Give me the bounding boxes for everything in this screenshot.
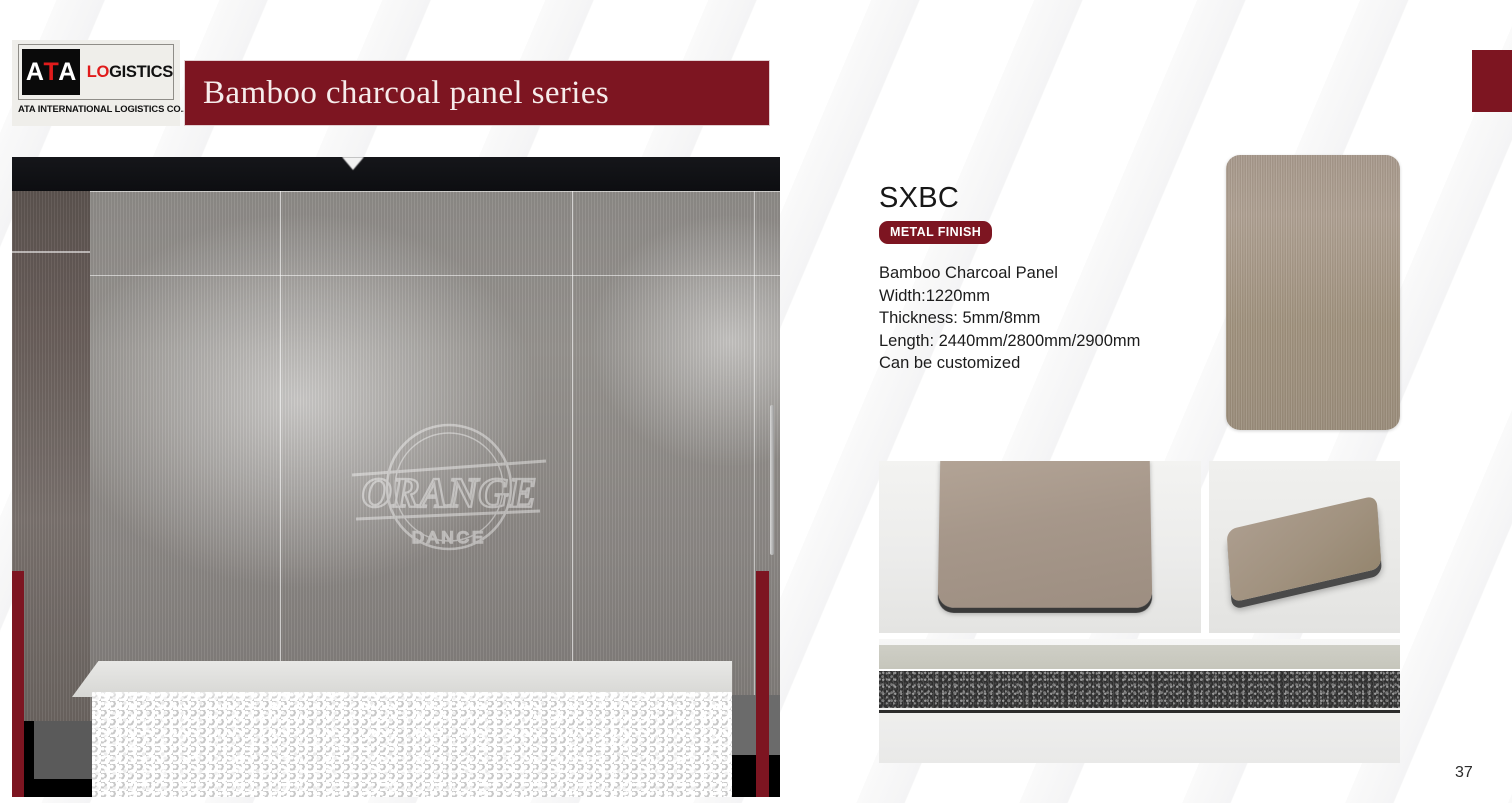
logo-letter-t: T (43, 60, 58, 85)
product-sku: SXBC (879, 182, 959, 215)
section-top-skin (879, 645, 1400, 669)
section-charcoal-core (879, 671, 1400, 708)
slide-title-banner: Bamboo charcoal panel series (184, 60, 770, 126)
logo-mark: ATA LOGISTICS (18, 44, 174, 100)
wall-seam-horizontal-top (90, 191, 780, 192)
logo-letter-a2: A (58, 60, 76, 85)
panel-angled-body (1226, 495, 1381, 602)
corner-accent-block (1472, 50, 1512, 112)
spec-line-custom: Can be customized (879, 352, 1140, 375)
product-photo-cross-section (879, 639, 1400, 763)
product-photo-flat (879, 461, 1201, 633)
page-number: 37 (1455, 764, 1473, 782)
wall-seam-horizontal-1 (90, 275, 780, 276)
spec-line-width: Width:1220mm (879, 285, 1140, 308)
section-bottom-skin (879, 710, 1400, 713)
material-color-swatch (1226, 155, 1400, 430)
logistics-wordmark: LOGISTICS (87, 63, 173, 82)
spec-line-material: Bamboo Charcoal Panel (879, 262, 1140, 285)
logistics-accent-o: O (97, 63, 110, 81)
wall-seam-vertical-2 (572, 191, 573, 721)
wall-logo-primary-text: ORANGE (361, 471, 536, 517)
spec-line-length: Length: 2440mm/2800mm/2900mm (879, 330, 1140, 353)
product-spec-list: Bamboo Charcoal Panel Width:1220mm Thick… (879, 262, 1140, 375)
hero-interior-photo: ORANGE DANCE (12, 157, 780, 797)
company-logo: ATA LOGISTICS ATA INTERNATIONAL LOGISTIC… (12, 40, 180, 126)
side-wall-seam (12, 251, 90, 253)
wall-base-left (34, 721, 92, 779)
panel-flat-body (938, 461, 1153, 608)
page-title: Bamboo charcoal panel series (203, 75, 609, 112)
accent-stripe-left (12, 571, 24, 797)
accent-stripe-right (756, 571, 769, 797)
ceiling-band (12, 157, 780, 191)
door-handle[interactable] (770, 405, 774, 555)
finish-badge: METAL FINISH (879, 221, 992, 244)
company-name-text: ATA INTERNATIONAL LOGISTICS CO.,LTD (18, 103, 176, 114)
product-photo-angled (1209, 461, 1400, 633)
wall-logo-secondary-text: DANCE (412, 528, 487, 547)
ata-logotype: ATA (22, 49, 80, 95)
wall-seam-vertical-1 (280, 191, 281, 721)
spec-line-thickness: Thickness: 5mm/8mm (879, 307, 1140, 330)
wall-brand-logo: ORANGE DANCE (334, 415, 564, 565)
logo-letter-a1: A (26, 60, 44, 85)
ceiling-light-notch-icon (342, 157, 364, 170)
slide-page: ATA LOGISTICS ATA INTERNATIONAL LOGISTIC… (0, 0, 1512, 803)
logistics-rest: GISTICS (109, 63, 173, 81)
reception-counter-terrazzo-face (92, 692, 732, 797)
logistics-accent-letter: L (87, 63, 97, 81)
